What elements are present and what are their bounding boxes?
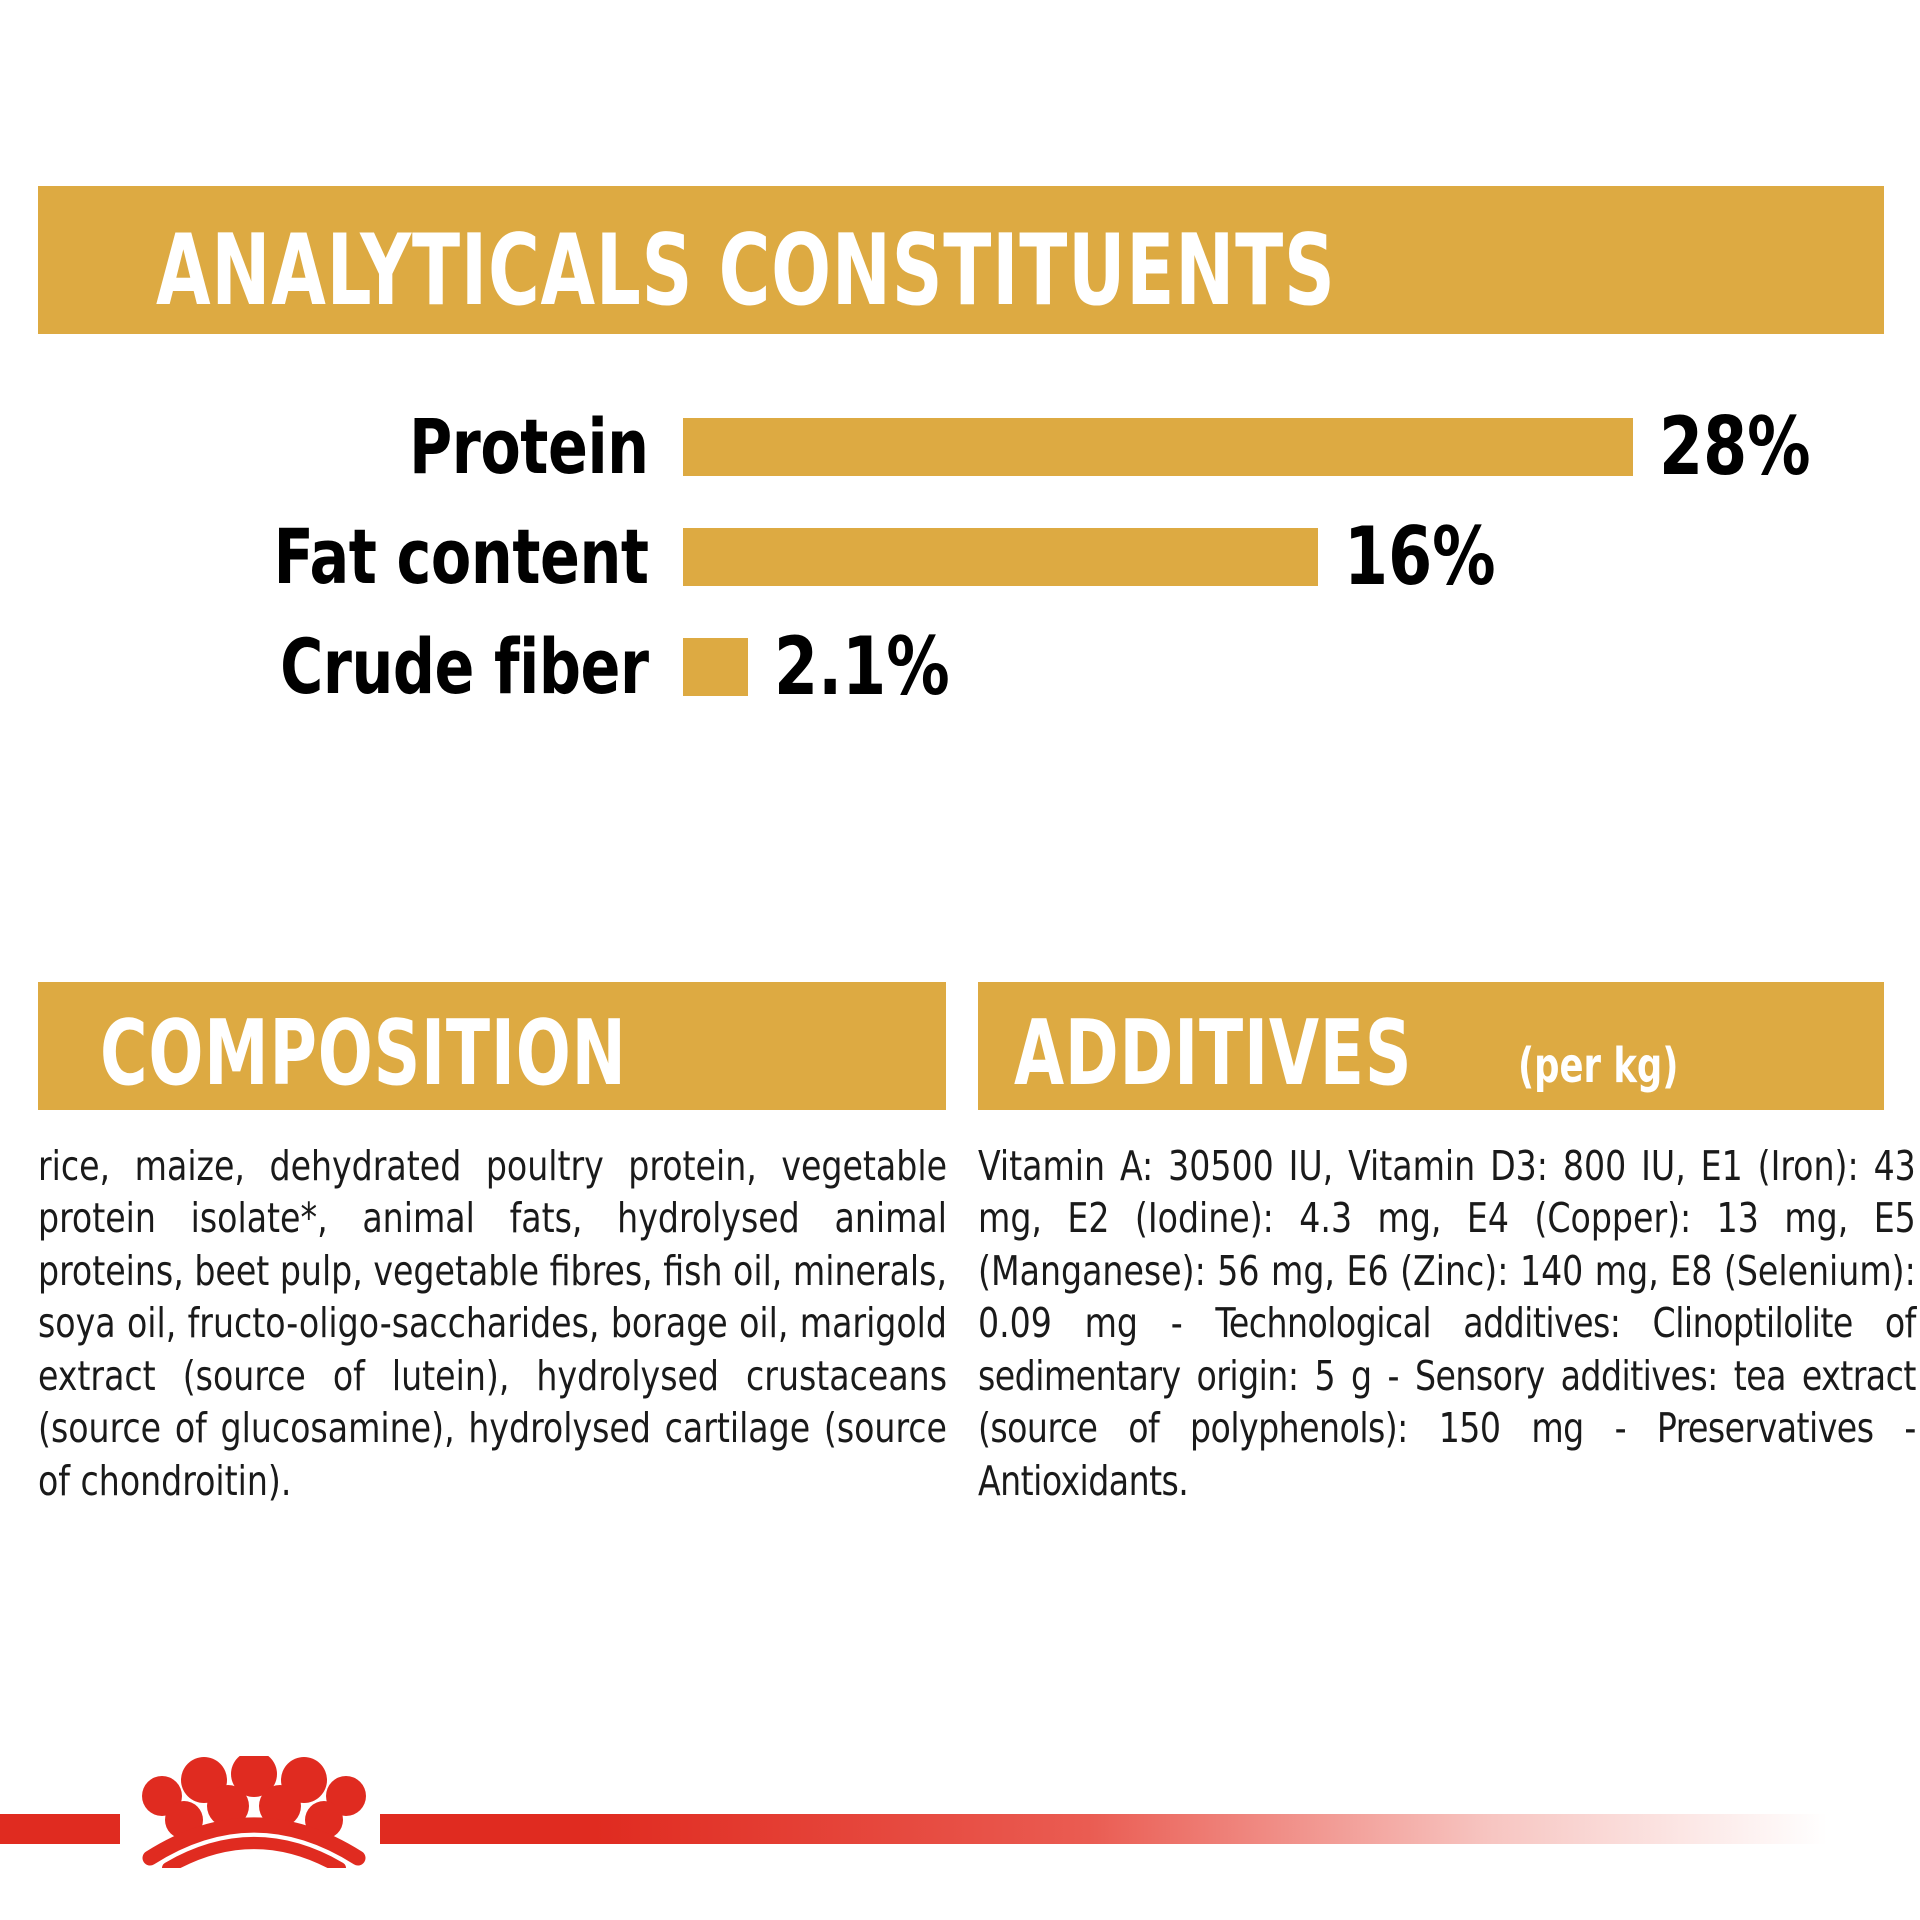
- chart-row-value: 28%: [1659, 407, 1811, 487]
- chart-row-label: Fat content: [96, 519, 683, 595]
- composition-header-band: COMPOSITION: [38, 982, 946, 1110]
- composition-body-text: rice, maize, dehydrated poultry protein,…: [38, 1140, 947, 1507]
- composition-header-title: COMPOSITION: [100, 1013, 627, 1096]
- chart-row-value: 16%: [1344, 517, 1496, 597]
- chart-row-bar: [683, 638, 748, 696]
- chart-row: Crude fiber 2.1%: [0, 612, 1920, 722]
- chart-row-bar: [683, 418, 1633, 476]
- chart-row: Protein 28%: [0, 392, 1920, 502]
- royal-canin-crown-icon: [128, 1756, 380, 1868]
- additives-header-subtitle: (per kg): [1518, 1042, 1678, 1090]
- brand-bar-left: [0, 1814, 120, 1844]
- analyticals-header-title: ANALYTICALS CONSTITUENTS: [156, 226, 1336, 316]
- chart-row-bar: [683, 528, 1318, 586]
- additives-header-band: ADDITIVES (per kg): [978, 982, 1884, 1110]
- chart-row-label: Protein: [96, 409, 683, 485]
- additives-body-text: Vitamin A: 30500 IU, Vitamin D3: 800 IU,…: [978, 1140, 1916, 1507]
- analyticals-header-band: ANALYTICALS CONSTITUENTS: [38, 186, 1884, 334]
- chart-row: Fat content 16%: [0, 502, 1920, 612]
- brand-bar-right: [380, 1814, 1920, 1844]
- chart-row-value: 2.1%: [774, 627, 950, 707]
- brand-footer-strip: [0, 1800, 1920, 1858]
- chart-row-label: Crude fiber: [96, 629, 683, 705]
- nutrition-label-page: ANALYTICALS CONSTITUENTS Protein 28% Fat…: [0, 0, 1920, 1920]
- additives-header-title: ADDITIVES: [1014, 1013, 1412, 1096]
- analyticals-bar-chart: Protein 28% Fat content 16% Crude fiber …: [0, 392, 1920, 722]
